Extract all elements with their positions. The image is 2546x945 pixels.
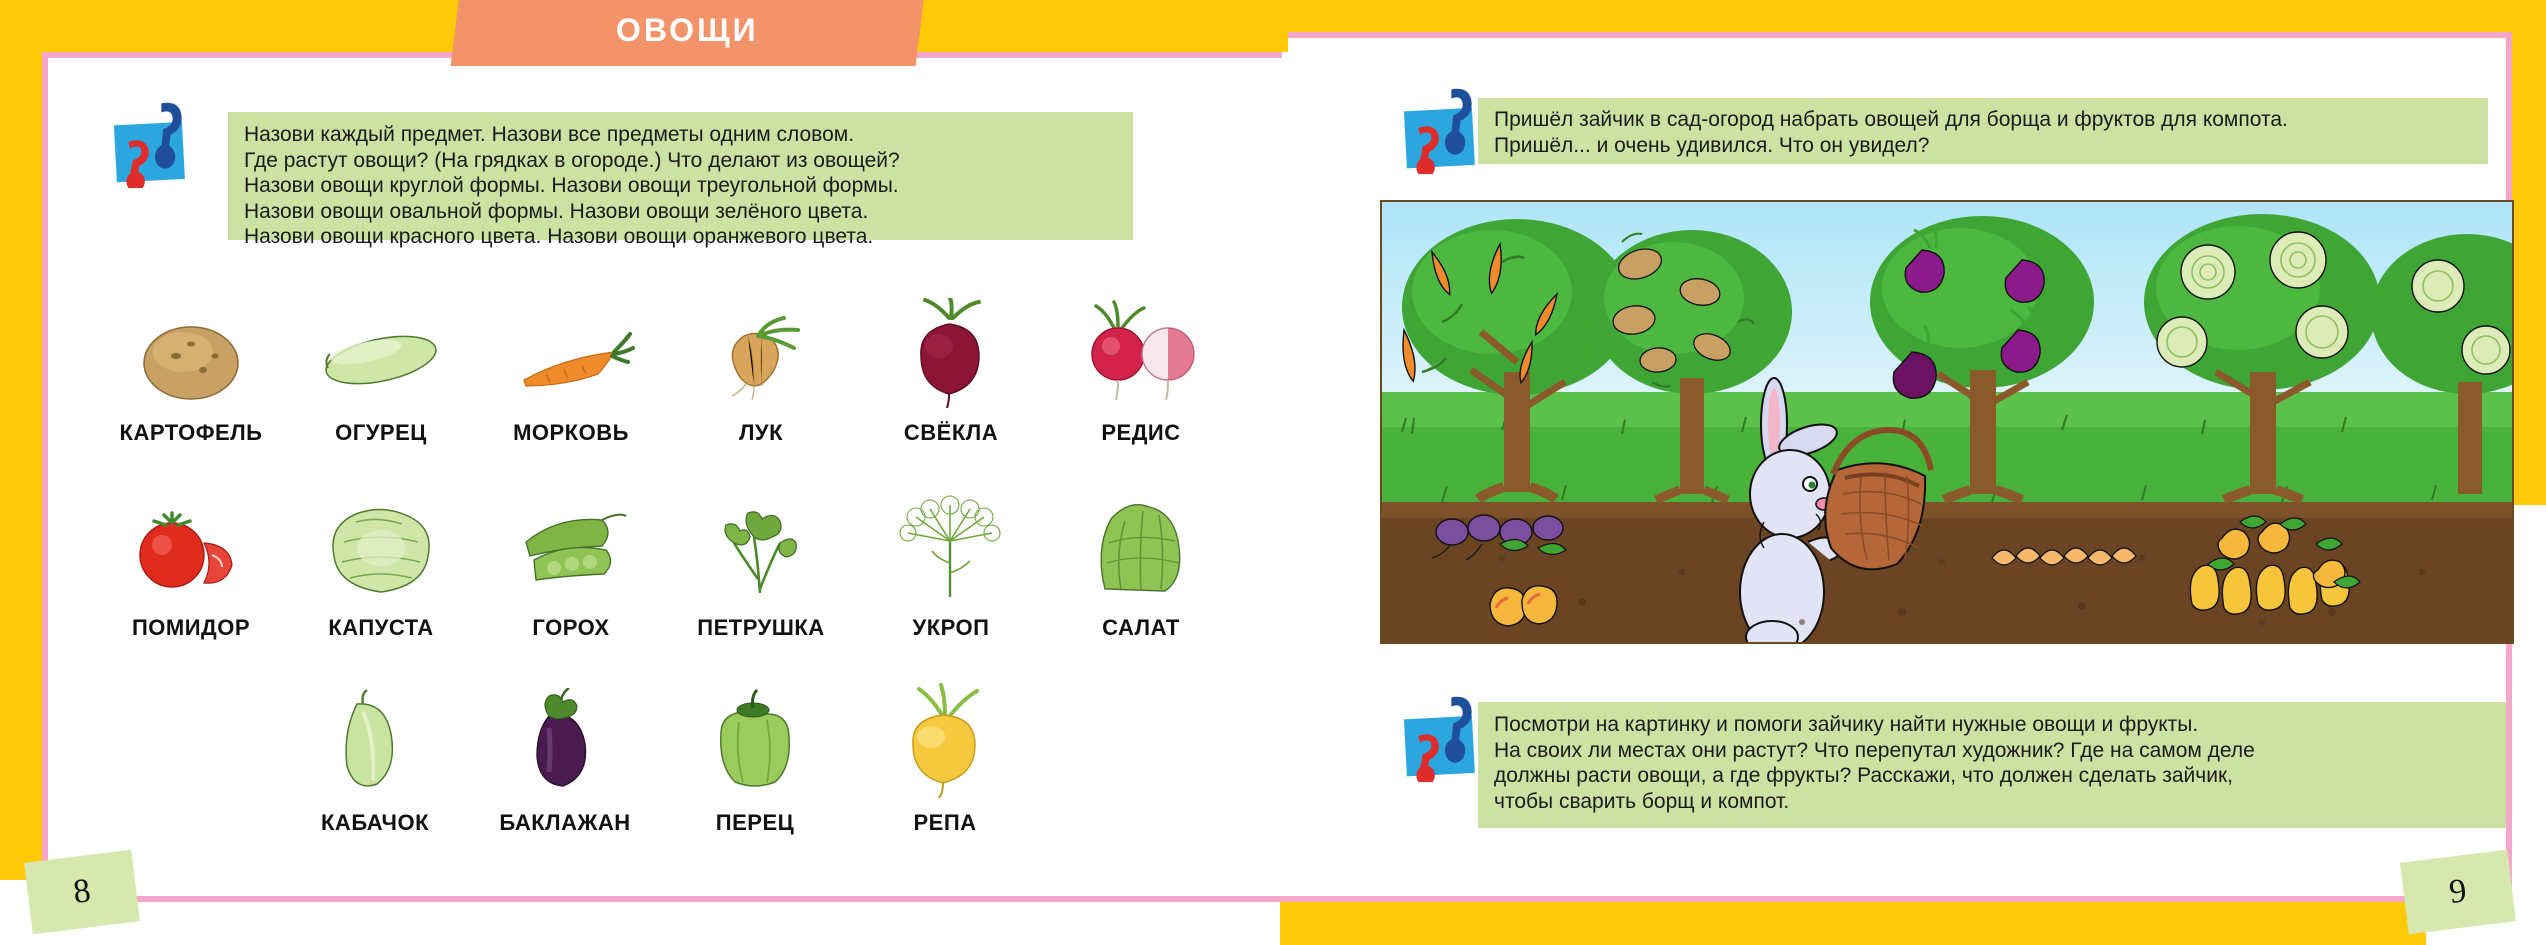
vegetable-label: РЕПА: [913, 810, 976, 836]
vegetable-label: УКРОП: [913, 615, 990, 641]
vegetable-item[interactable]: КАПУСТА: [286, 485, 476, 641]
instruction-line: Пришёл зайчик в сад-огород набрать овоще…: [1494, 107, 2488, 133]
vegetable-item[interactable]: КАРТОФЕЛЬ: [96, 290, 286, 446]
vegetable-item[interactable]: САЛАТ: [1046, 485, 1236, 641]
vegetable-label: ПЕРЕЦ: [716, 810, 794, 836]
vegetable-label: СВЁКЛА: [904, 420, 998, 446]
vegetable-label: РЕДИС: [1101, 420, 1180, 446]
instructions-bottom-right-block: Посмотри на картинку и помоги зайчику на…: [1478, 702, 2506, 828]
vegetable-label: БАКЛАЖАН: [499, 810, 630, 836]
vegetable-item[interactable]: СВЁКЛА: [856, 290, 1046, 446]
vegetable-item[interactable]: РЕПА: [850, 680, 1040, 836]
vegetable-label: САЛАТ: [1102, 615, 1180, 641]
instruction-line: Где растут овощи? (На грядках в огороде.…: [244, 148, 1133, 174]
instruction-line: Назови каждый предмет. Назови все предме…: [244, 122, 1133, 148]
instructions-left-block: Назови каждый предмет. Назови все предме…: [228, 112, 1133, 240]
instruction-line: Назови овощи круглой формы. Назови овощи…: [244, 173, 1133, 199]
page-number-tag: 9: [2400, 850, 2516, 935]
vegetable-label: ЛУК: [739, 420, 783, 446]
vegetable-item[interactable]: КАБАЧОК: [280, 680, 470, 836]
page-spine: [1282, 52, 1290, 890]
beet-icon: [891, 290, 1011, 408]
pepper-icon: [695, 680, 815, 798]
instructions-top-right-block: Пришёл зайчик в сад-огород набрать овоще…: [1478, 98, 2488, 164]
instruction-line: Пришёл... и очень удивился. Что он увиде…: [1494, 133, 2488, 159]
vegetable-label: ОГУРЕЦ: [335, 420, 427, 446]
question-note-icon: [1398, 82, 1490, 174]
vegetable-row-1: КАРТОФЕЛЬ ОГУРЕЦ МОРКОВЬ: [96, 290, 1236, 446]
instruction-line: чтобы сварить борщ и компот.: [1494, 789, 2506, 815]
eggplant-icon: [505, 680, 625, 798]
vegetable-label: КАПУСТА: [328, 615, 433, 641]
rabbit-garden-illustration: [1380, 200, 2514, 644]
carrot-icon: [506, 290, 636, 408]
instruction-line: На своих ли местах они растут? Что переп…: [1494, 738, 2506, 764]
lettuce-icon: [1081, 485, 1201, 603]
vegetable-item[interactable]: БАКЛАЖАН: [470, 680, 660, 836]
cucumber-icon: [316, 290, 446, 408]
page-title-banner: ОВОЩИ: [451, 0, 925, 66]
instruction-line: Назови овощи овальной формы. Назови овощ…: [244, 199, 1133, 225]
page-title: ОВОЩИ: [616, 12, 759, 49]
vegetable-item[interactable]: РЕДИС: [1046, 290, 1236, 446]
peas-icon: [506, 485, 636, 603]
question-note-icon: [1398, 690, 1490, 782]
vegetable-item[interactable]: ЛУК: [666, 290, 856, 446]
vegetable-label: ПЕТРУШКА: [697, 615, 824, 641]
potato-icon: [131, 290, 251, 408]
vegetable-label: МОРКОВЬ: [513, 420, 629, 446]
onion-icon: [696, 290, 826, 408]
vegetable-label: ПОМИДОР: [132, 615, 250, 641]
radish-icon: [1076, 290, 1206, 408]
cabbage-icon: [316, 485, 446, 603]
vegetable-row-2: ПОМИДОР КАПУСТА ГОРОХ: [96, 485, 1236, 641]
vegetable-label: КАБАЧОК: [321, 810, 429, 836]
vegetable-item[interactable]: ОГУРЕЦ: [286, 290, 476, 446]
dill-icon: [886, 485, 1016, 603]
zucchini-icon: [315, 680, 435, 798]
vegetable-row-3: КАБАЧОК БАКЛАЖАН ПЕРЕЦ: [280, 680, 1040, 836]
page-number: 8: [71, 872, 93, 912]
vegetable-item[interactable]: ГОРОХ: [476, 485, 666, 641]
vegetable-item[interactable]: МОРКОВЬ: [476, 290, 666, 446]
vegetable-label: КАРТОФЕЛЬ: [120, 420, 263, 446]
vegetable-label: ГОРОХ: [532, 615, 609, 641]
vegetable-item[interactable]: ПЕРЕЦ: [660, 680, 850, 836]
page-number: 9: [2447, 872, 2469, 912]
question-note-icon: [108, 96, 200, 188]
vegetable-item[interactable]: УКРОП: [856, 485, 1046, 641]
instruction-line: Назови овощи красного цвета. Назови овощ…: [244, 224, 1133, 250]
instruction-line: должны расти овощи, а где фрукты? Расска…: [1494, 763, 2506, 789]
parsley-icon: [696, 485, 826, 603]
turnip-icon: [885, 680, 1005, 798]
vegetable-item[interactable]: ПОМИДОР: [96, 485, 286, 641]
vegetable-item[interactable]: ПЕТРУШКА: [666, 485, 856, 641]
page-number-tag: 8: [24, 850, 140, 935]
instruction-line: Посмотри на картинку и помоги зайчику на…: [1494, 712, 2506, 738]
tomato-icon: [126, 485, 256, 603]
